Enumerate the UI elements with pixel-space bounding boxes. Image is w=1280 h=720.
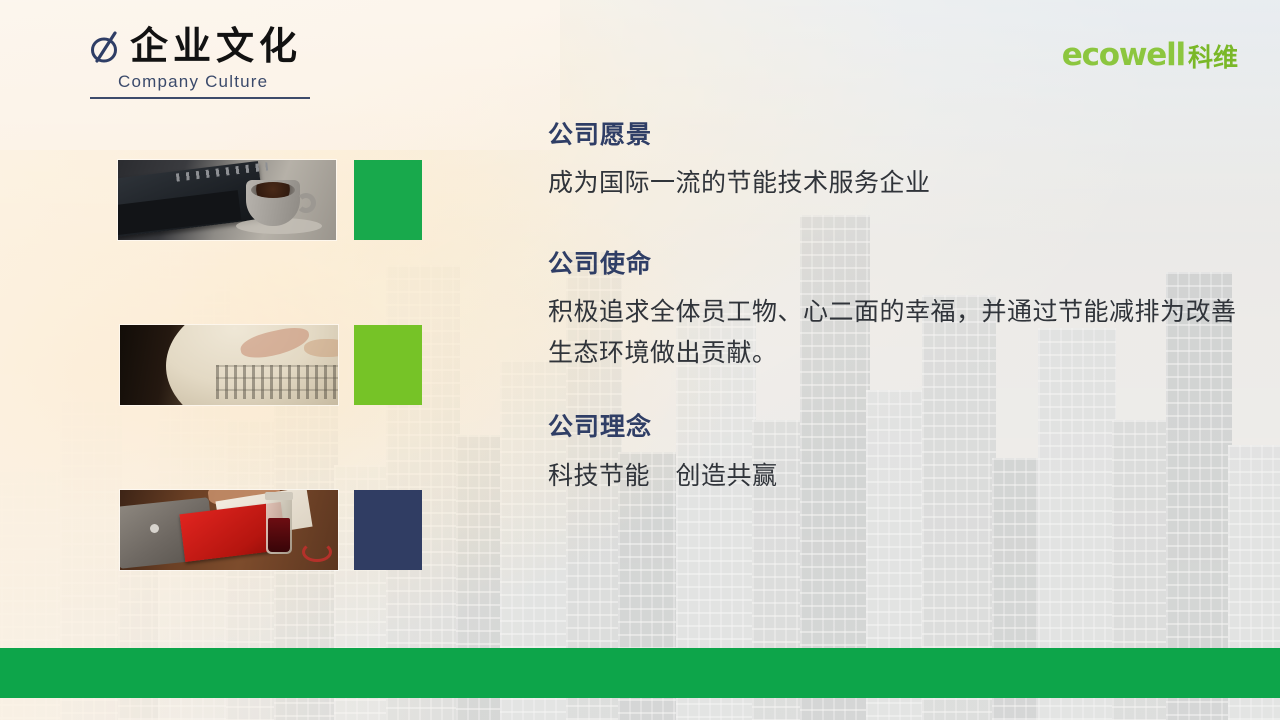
title-cn: 企业文化 xyxy=(130,28,302,68)
logo-wordmark-cn: 科维 xyxy=(1188,45,1238,71)
page-title: 企业文化 Company Culture xyxy=(90,28,420,99)
globe-map-photo xyxy=(120,325,338,405)
company-logo: ecowell 科维 xyxy=(1062,40,1238,71)
title-en: Company Culture xyxy=(118,72,420,92)
slide-company-culture: 企业文化 Company Culture ecowell 科维 xyxy=(0,0,1280,720)
laptop-notebook-photo xyxy=(120,490,338,570)
content-column: 公司愿景 成为国际一流的节能技术服务企业 公司使命 积极追求全体员工物、心二面的… xyxy=(548,120,1248,523)
title-row: 企业文化 xyxy=(90,28,420,68)
section-vision-heading: 公司愿景 xyxy=(548,120,1248,151)
title-underline xyxy=(90,97,310,99)
section-philosophy: 公司理念 科技节能 创造共赢 xyxy=(548,412,1248,497)
section-vision: 公司愿景 成为国际一流的节能技术服务企业 xyxy=(548,120,1248,205)
logo-wordmark: ecowell xyxy=(1062,40,1185,71)
slashed-circle-icon xyxy=(90,31,120,65)
section-philosophy-body: 科技节能 创造共赢 xyxy=(548,456,1248,497)
section-mission-body: 积极追求全体员工物、心二面的幸福，并通过节能减排为改善生态环境做出贡献。 xyxy=(548,292,1238,375)
section-mission-heading: 公司使命 xyxy=(548,249,1248,280)
section-philosophy-heading: 公司理念 xyxy=(548,412,1248,443)
notebook-coffee-photo xyxy=(118,160,336,240)
footer-accent-bar xyxy=(0,648,1280,698)
section-mission: 公司使命 积极追求全体员工物、心二面的幸福，并通过节能减排为改善生态环境做出贡献… xyxy=(548,249,1248,375)
navy-swatch xyxy=(354,490,422,570)
section-vision-body: 成为国际一流的节能技术服务企业 xyxy=(548,163,1248,204)
light-green-swatch xyxy=(354,325,422,405)
green-swatch xyxy=(354,160,422,240)
